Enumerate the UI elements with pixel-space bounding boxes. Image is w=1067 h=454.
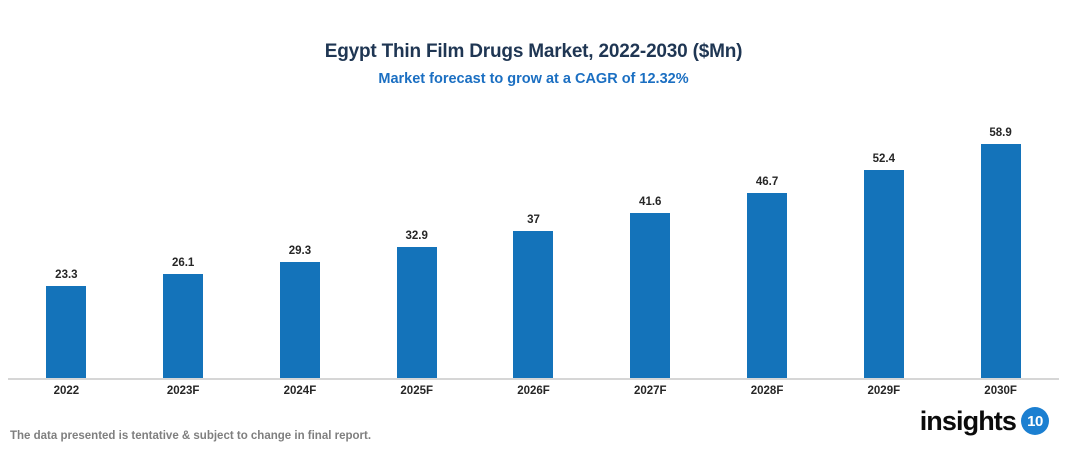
bar-rect[interactable] [864,170,904,378]
bar-column: 46.7 [747,120,787,378]
chart-card: Egypt Thin Film Drugs Market, 2022-2030 … [0,0,1067,454]
bar-rect[interactable] [397,247,437,378]
bar-group: 41.6 [592,120,709,378]
bar-group: 37 [475,120,592,378]
bar-value-label: 32.9 [406,230,428,243]
bar-column: 29.3 [280,120,320,378]
bar-column: 52.4 [864,120,904,378]
title-block: Egypt Thin Film Drugs Market, 2022-2030 … [0,40,1067,88]
x-axis-tick-label: 2023F [125,381,242,401]
bar-group: 58.9 [942,120,1059,378]
bar-group: 46.7 [709,120,826,378]
bar-group: 29.3 [242,120,359,378]
bar-column: 41.6 [630,120,670,378]
bar-value-label: 46.7 [756,176,778,189]
insights10-logo: insights 10 [920,405,1049,437]
x-axis-tick-label: 2026F [475,381,592,401]
bar-rect[interactable] [630,213,670,378]
x-axis-tick-label: 2028F [709,381,826,401]
bar-value-label: 58.9 [989,127,1011,140]
bar-rect[interactable] [46,286,86,378]
x-axis-tick-label: 2022 [8,381,125,401]
disclaimer-text: The data presented is tentative & subjec… [10,429,371,443]
x-axis-tick-label: 2029F [825,381,942,401]
bar-rect[interactable] [747,193,787,378]
x-axis-tick-label: 2027F [592,381,709,401]
bar-group: 23.3 [8,120,125,378]
x-axis-tick-label: 2025F [358,381,475,401]
bar-column: 23.3 [46,120,86,378]
bar-value-label: 52.4 [873,153,895,166]
bar-rect[interactable] [163,274,203,378]
bar-rect[interactable] [981,144,1021,378]
x-axis-line [8,378,1059,380]
bar-value-label: 29.3 [289,245,311,258]
bar-rect[interactable] [280,262,320,378]
bar-value-label: 37 [527,214,540,227]
bar-group: 32.9 [358,120,475,378]
bar-value-label: 26.1 [172,257,194,270]
bar-value-label: 23.3 [55,269,77,282]
bar-column: 58.9 [981,120,1021,378]
brand-badge-icon: 10 [1021,407,1049,435]
x-axis-labels: 20222023F2024F2025F2026F2027F2028F2029F2… [8,381,1059,403]
bar-group: 26.1 [125,120,242,378]
brand-wordmark: insights [920,407,1016,435]
bar-group: 52.4 [825,120,942,378]
plot-area: 23.326.129.332.93741.646.752.458.9 [8,120,1059,378]
x-axis-tick-label: 2030F [942,381,1059,401]
chart-subtitle: Market forecast to grow at a CAGR of 12.… [0,70,1067,88]
chart-title: Egypt Thin Film Drugs Market, 2022-2030 … [0,40,1067,64]
x-axis-tick-label: 2024F [242,381,359,401]
bar-column: 32.9 [397,120,437,378]
bar-rect[interactable] [513,231,553,378]
bar-column: 37 [513,120,553,378]
bar-column: 26.1 [163,120,203,378]
bar-value-label: 41.6 [639,196,661,209]
